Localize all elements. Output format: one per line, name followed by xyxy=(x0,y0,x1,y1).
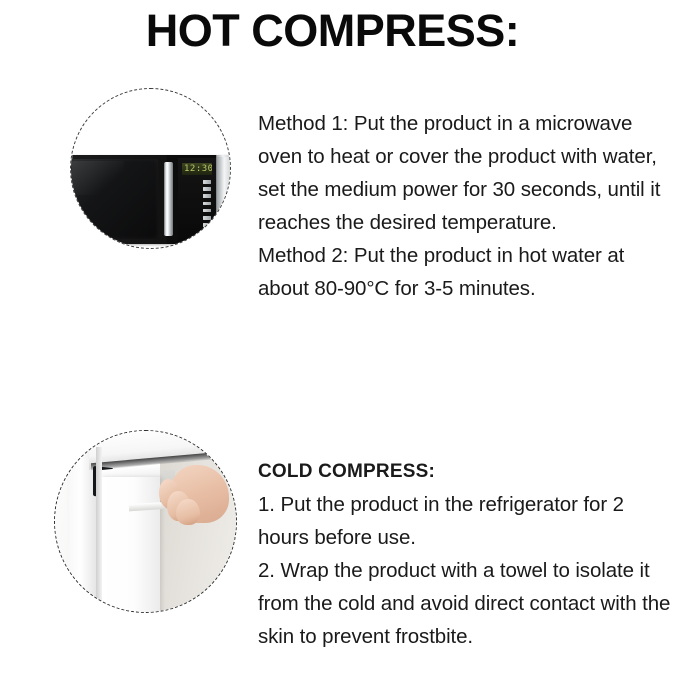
refrigerator-photo-inset xyxy=(54,430,237,613)
microwave-button-strip xyxy=(203,180,211,234)
microwave-handle xyxy=(164,162,173,236)
microwave-button xyxy=(203,216,211,220)
hand-finger xyxy=(176,499,201,526)
microwave-button xyxy=(203,187,211,191)
cold-compress-text-block: COLD COMPRESS: 1. Put the product in the… xyxy=(258,455,676,653)
microwave-display-value: 12:30 xyxy=(184,164,212,174)
hot-method-1-text: Method 1: Put the product in a microwave… xyxy=(258,107,676,239)
microwave-button xyxy=(203,209,211,213)
microwave-photo-inset: 12:30 xyxy=(70,88,231,249)
microwave-display: 12:30 xyxy=(182,163,212,175)
cold-compress-heading: COLD COMPRESS: xyxy=(258,455,676,488)
microwave-glass-reflection xyxy=(72,161,124,195)
page-title: HOT COMPRESS: xyxy=(0,6,679,56)
cold-step-2-text: 2. Wrap the product with a towel to isol… xyxy=(258,554,676,653)
hot-method-2-text: Method 2: Put the product in hot water a… xyxy=(258,239,676,305)
microwave-side-trim xyxy=(217,157,231,242)
microwave-illustration: 12:30 xyxy=(70,155,231,248)
microwave-foot xyxy=(82,242,95,246)
microwave-button xyxy=(203,223,211,227)
refrigerator-illustration xyxy=(55,431,237,613)
hot-compress-text-block: Method 1: Put the product in a microwave… xyxy=(258,107,676,305)
microwave-foot xyxy=(188,242,201,246)
refrigerator-door-edge xyxy=(96,447,102,613)
microwave-button xyxy=(203,180,211,184)
instruction-graphic: HOT COMPRESS: 12:30 xyxy=(0,0,679,679)
microwave-button xyxy=(203,202,211,206)
microwave-button xyxy=(203,194,211,198)
cold-step-1-text: 1. Put the product in the refrigerator f… xyxy=(258,488,676,554)
hand-gripping-handle xyxy=(151,461,229,531)
microwave-button xyxy=(203,230,211,234)
